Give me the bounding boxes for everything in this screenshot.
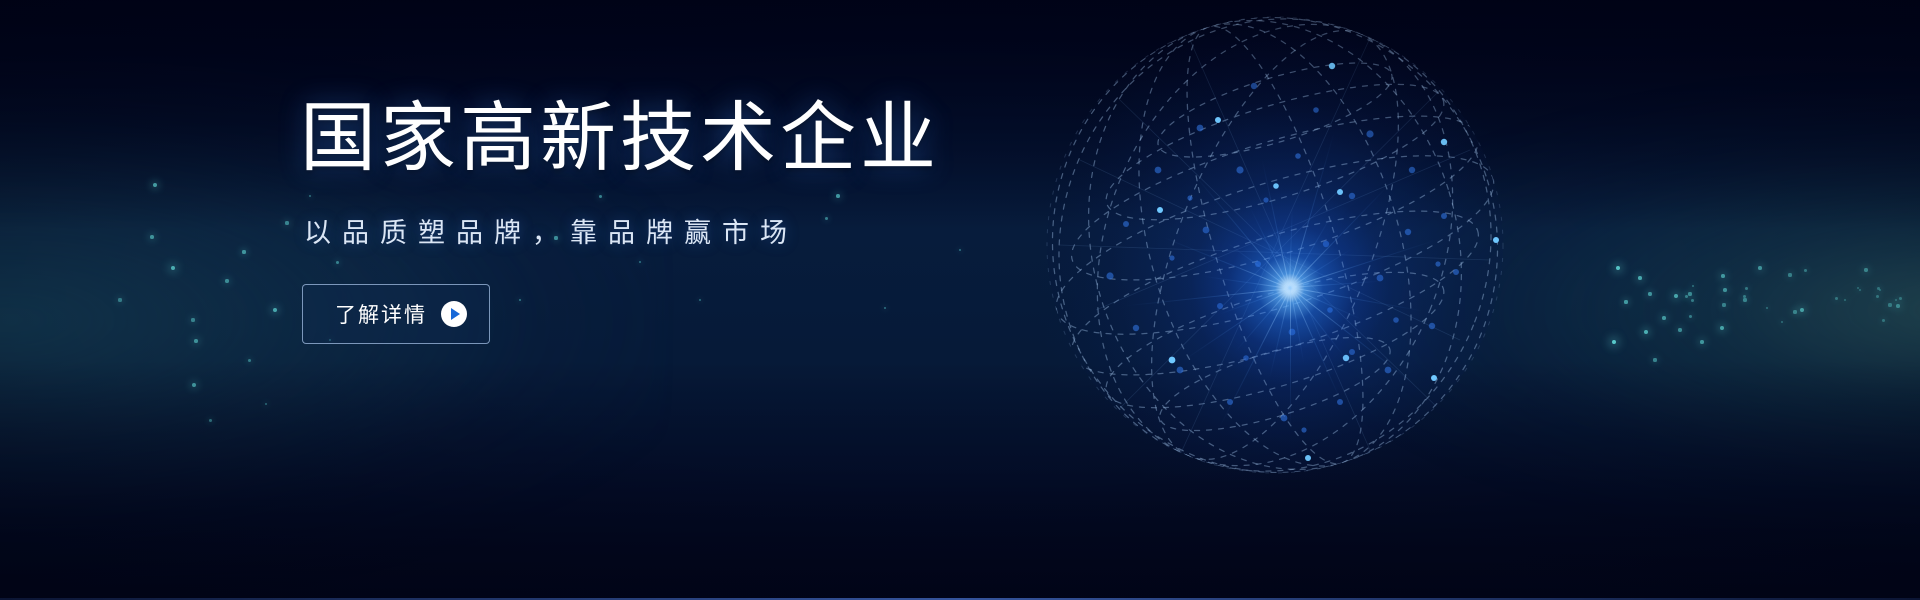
- learn-more-label: 了解详情: [335, 299, 427, 329]
- hero-banner: 国家高新技术企业 以品质塑品牌，靠品牌赢市场 了解详情: [0, 0, 1920, 600]
- play-icon: [441, 301, 467, 327]
- page-title: 国家高新技术企业: [300, 96, 1020, 181]
- learn-more-button[interactable]: 了解详情: [302, 284, 490, 344]
- hero-content: 国家高新技术企业 以品质塑品牌，靠品牌赢市场 了解详情: [300, 96, 1020, 344]
- page-subtitle: 以品质塑品牌，靠品牌赢市场: [304, 211, 1020, 250]
